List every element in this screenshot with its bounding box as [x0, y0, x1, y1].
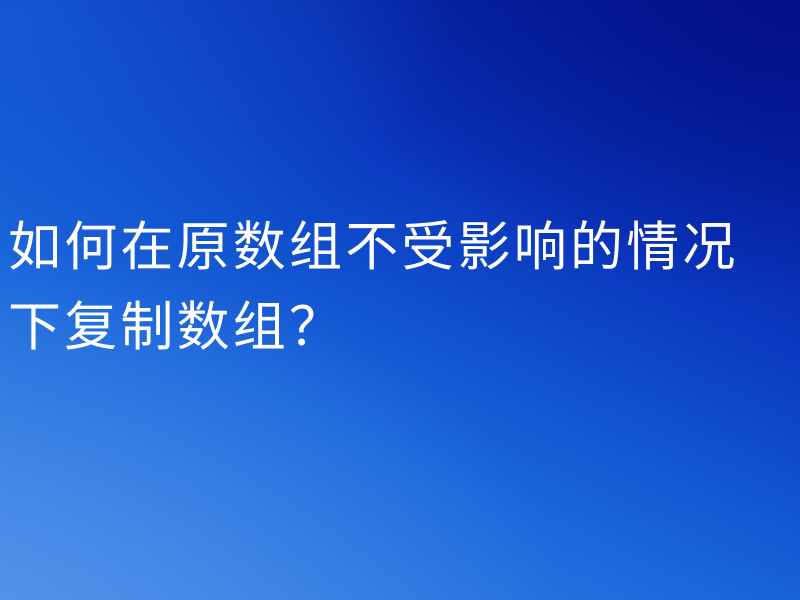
title-line-2: 下复制数组？ — [8, 288, 800, 368]
page-title: 如何在原数组不受影响的情况 下复制数组？ — [8, 208, 800, 368]
title-line-1: 如何在原数组不受影响的情况 — [8, 208, 800, 288]
title-card: 如何在原数组不受影响的情况 下复制数组？ — [0, 0, 800, 600]
